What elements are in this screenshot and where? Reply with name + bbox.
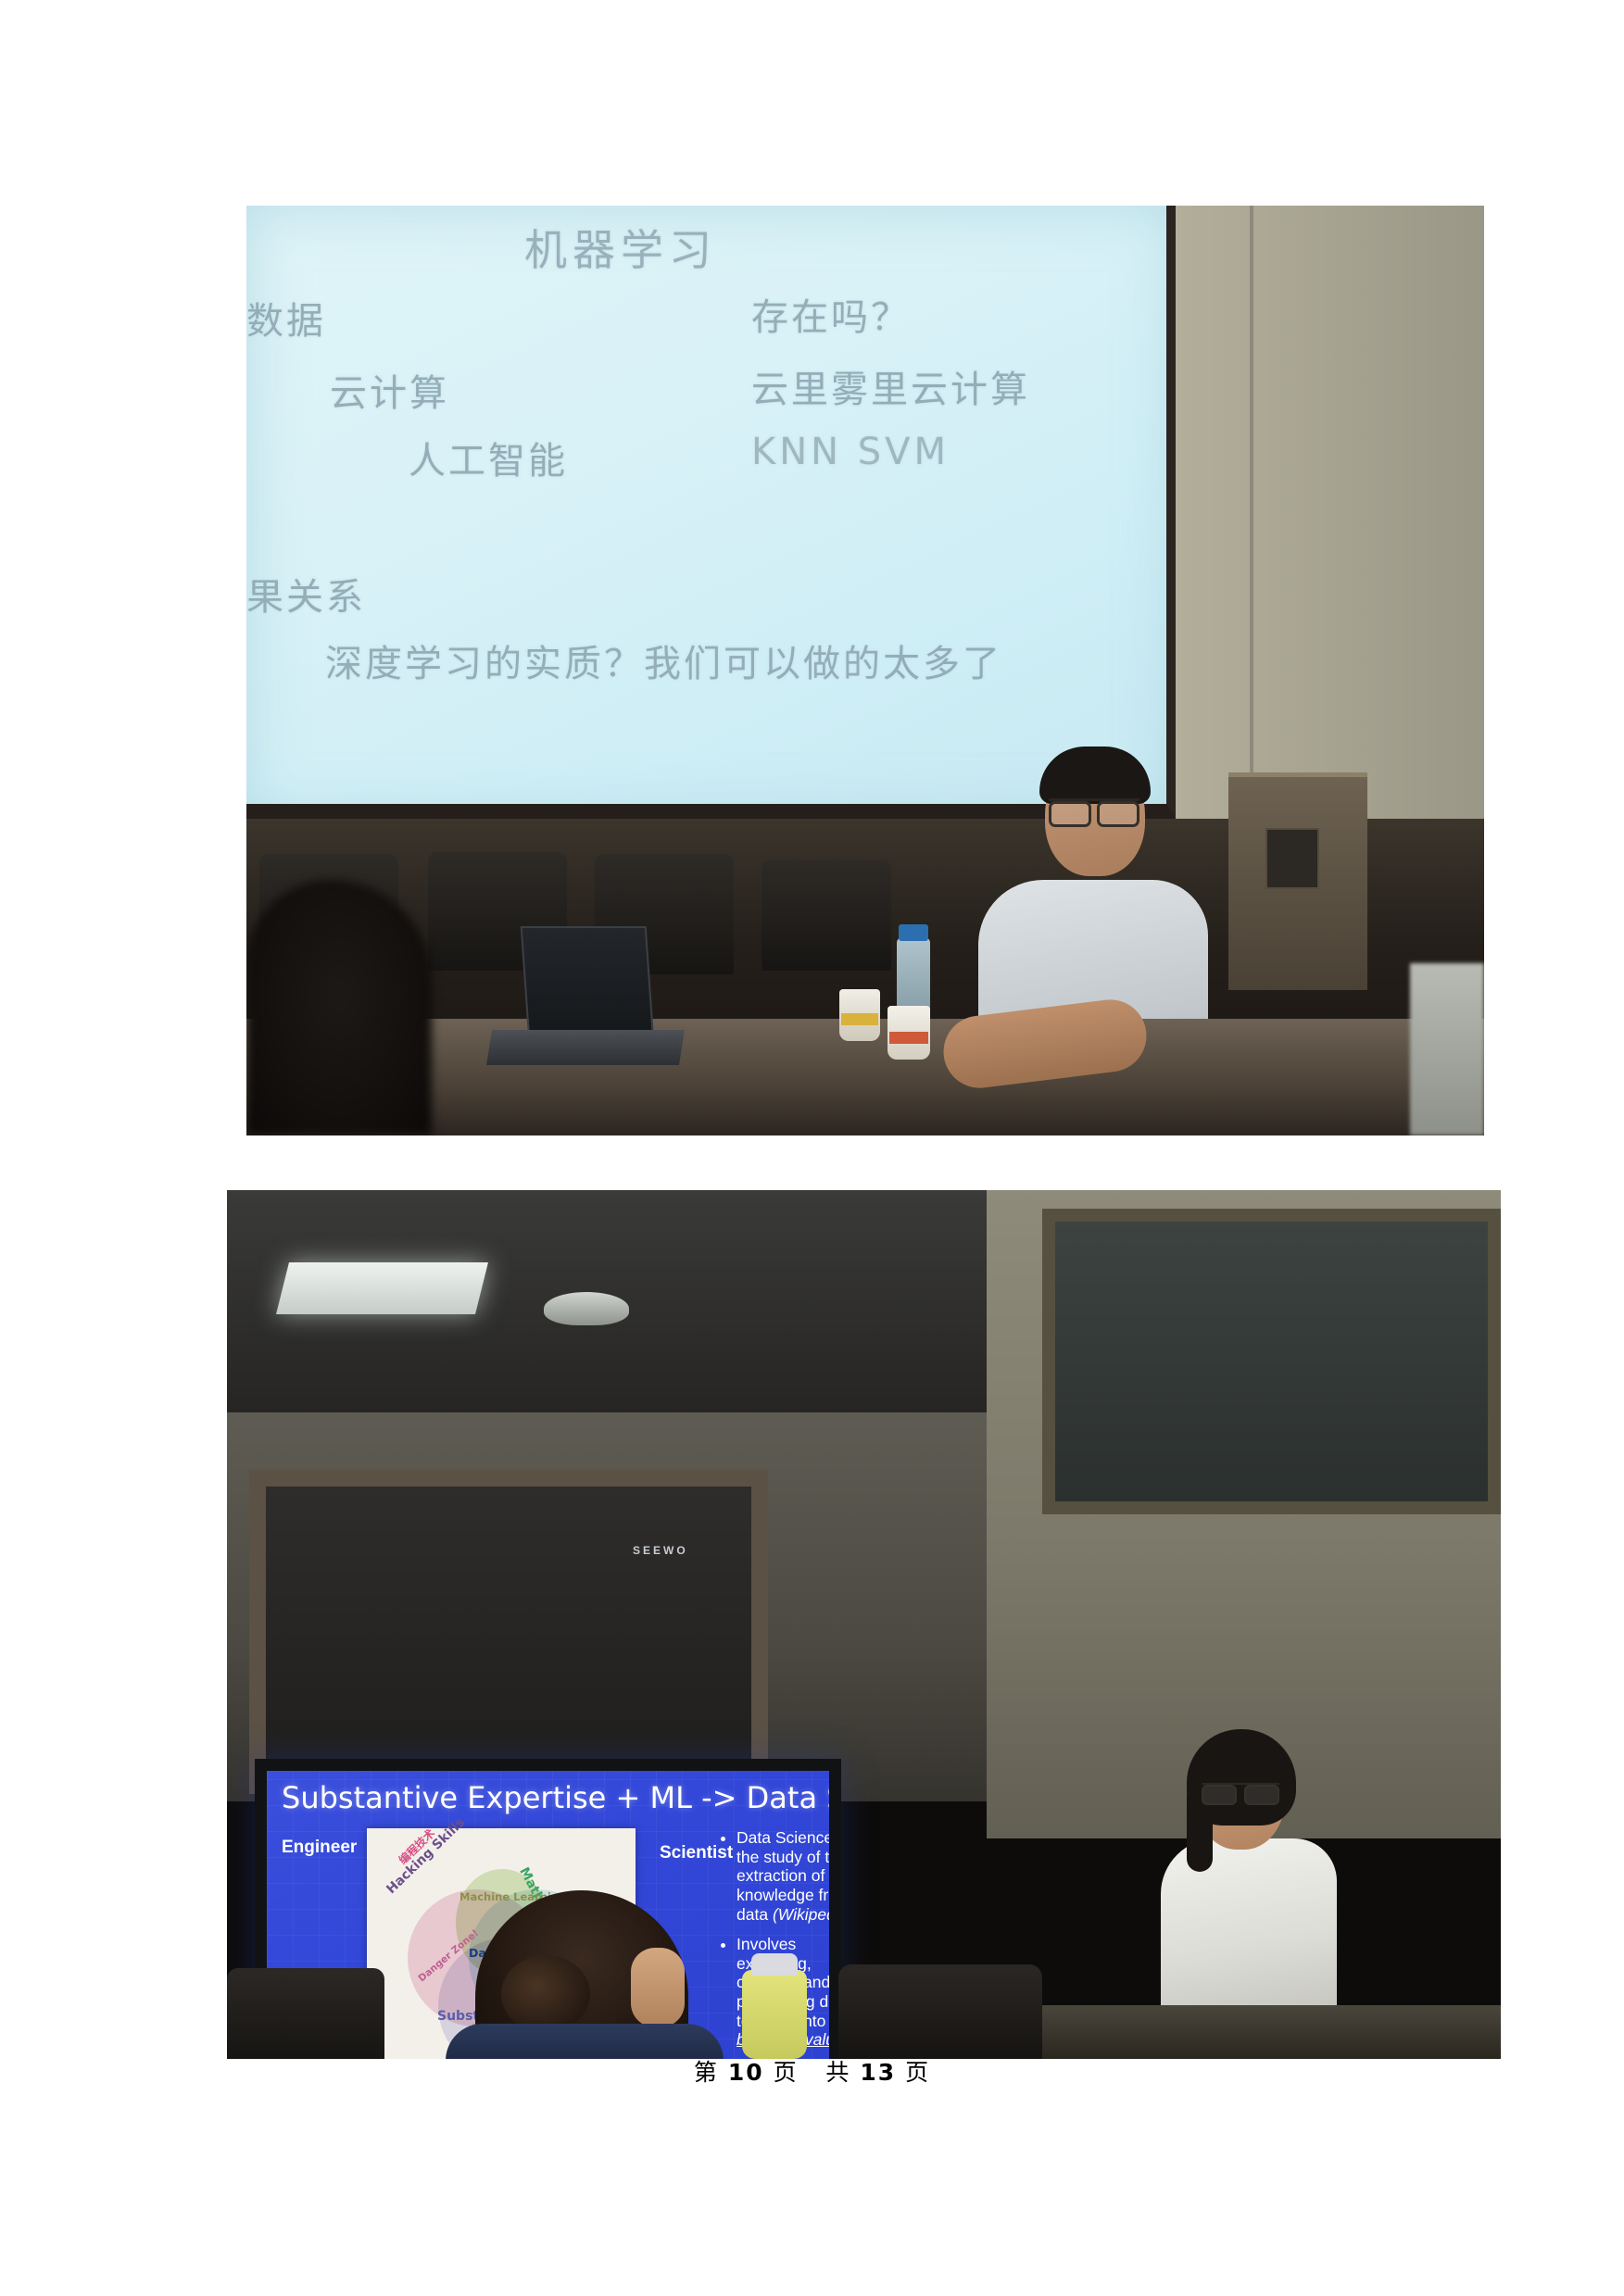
figure-2-photo: Substantive Expertise + ML -> Data Scien… [227, 1190, 1501, 2059]
lecture-chair [762, 859, 891, 971]
slide2-bullet-1-source: (Wikipedia) [773, 1905, 829, 1924]
footer-page-number: 10 [728, 2059, 764, 2086]
paper-cup [888, 1006, 930, 1060]
podium-panel [1265, 828, 1319, 889]
interior-window [249, 1470, 768, 1794]
water-bottle-cap [899, 924, 928, 941]
footer-of-word: 共 [825, 2059, 850, 2086]
ceiling-light [276, 1262, 488, 1314]
footer-page-word-2: 页 [905, 2059, 930, 2086]
slide1-left-line-3: 人工智能 [409, 431, 568, 484]
laptop-screen [521, 926, 655, 1041]
foreground-audience-head [246, 880, 432, 1135]
student-foreground-hand [631, 1948, 685, 2027]
classroom-chair [838, 1964, 1042, 2059]
slide1-right-line-1: 存在吗？ [751, 287, 911, 341]
student-foreground-hair-bun [501, 1955, 590, 2033]
lecture-hall-right-wall [1176, 206, 1484, 854]
thermos-flask-cap [751, 1953, 798, 1976]
presenter-woman-glasses [1202, 1783, 1279, 1801]
classroom-back-wall [227, 1412, 987, 1801]
venn-label-machine-learning: Machine Learning [460, 1891, 545, 1902]
slide1-left-line-2: 云计算 [330, 363, 449, 417]
venn-label-hacking-skills: 编程技术 Hacking Skills [376, 1807, 467, 1896]
laptop-keyboard [486, 1030, 685, 1065]
slide1-bottom-line-1: 果关系 [246, 567, 366, 621]
document-page: 机器学习 数据 云计算 人工智能 存在吗？ 云里雾里云计算 KNN SVM 果关… [0, 0, 1624, 2296]
slide2-bullet-1: Data Science is the study of the extract… [736, 1828, 829, 1924]
classroom-ceiling [227, 1190, 987, 1412]
ceiling-dome-speaker [544, 1292, 629, 1325]
background-person [1410, 963, 1484, 1135]
footer-page-word: 页 [774, 2059, 799, 2086]
footer-prefix: 第 [694, 2059, 719, 2086]
paper-cup [839, 989, 880, 1041]
projection-screen: 机器学习 数据 云计算 人工智能 存在吗？ 云里雾里云计算 KNN SVM 果关… [246, 206, 1176, 819]
slide1-title: 机器学习 [524, 217, 717, 278]
page-footer: 第 10 页 共 13 页 [0, 2054, 1624, 2088]
footer-total-pages: 13 [860, 2059, 896, 2086]
figure-1-photo: 机器学习 数据 云计算 人工智能 存在吗？ 云里雾里云计算 KNN SVM 果关… [246, 206, 1484, 1135]
slide1-bottom-line-2: 深度学习的实质？我们可以做的太多了 [325, 634, 1002, 687]
venn-label-hacking-skills-cn: 编程技术 [376, 1807, 458, 1887]
slide2-title: Substantive Expertise + ML -> Data Scien… [282, 1780, 829, 1815]
blackboard [1042, 1209, 1501, 1514]
slide1-right-line-3: KNN SVM [751, 431, 950, 473]
classroom-desk [1042, 2005, 1501, 2059]
thermos-flask [742, 1970, 807, 2059]
slide2-label-engineer: Engineer [282, 1838, 357, 1858]
slide1-left-line-1: 数据 [246, 291, 326, 345]
classroom-chair [227, 1968, 384, 2059]
display-brand-label: SEEWO [633, 1544, 688, 1557]
slide1-right-line-2: 云里雾里云计算 [751, 359, 1030, 413]
presenter-glasses [1049, 798, 1139, 822]
